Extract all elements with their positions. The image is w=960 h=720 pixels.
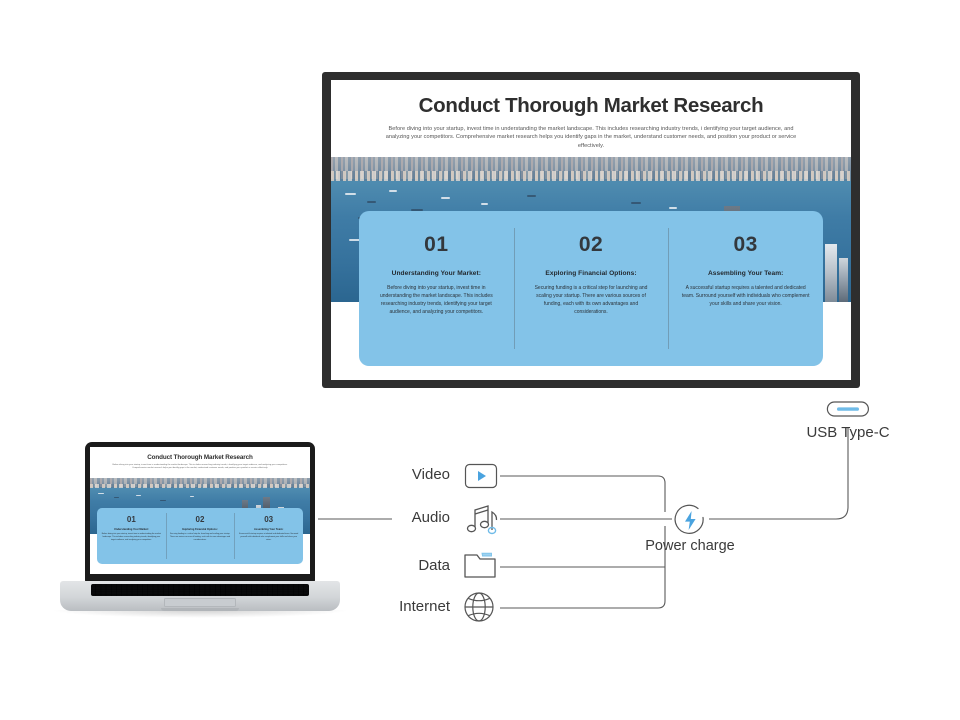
card-number: 02 xyxy=(170,515,231,524)
laptop-keyboard xyxy=(91,584,309,596)
slide-subtitle: Before diving into your startup, invest … xyxy=(383,125,799,151)
laptop-slide-subtitle: Before diving into your startup, invest … xyxy=(90,461,310,471)
monitor-screen: Conduct Thorough Market Research Before … xyxy=(331,80,851,380)
card-body: Securing funding is a critical step for … xyxy=(170,533,231,542)
three-step-card-panel: 01 Understanding Your Market: Before div… xyxy=(359,211,823,366)
card-body: A successful startup requires a talented… xyxy=(681,284,810,308)
card-body: A successful startup requires a talented… xyxy=(238,533,299,542)
slide-header: Conduct Thorough Market Research Before … xyxy=(331,80,851,159)
laptop-card-step-1: 01 Understanding Your Market: Before div… xyxy=(97,508,166,564)
card-number: 02 xyxy=(527,233,656,257)
card-number: 03 xyxy=(238,515,299,524)
card-step-2: 02 Exploring Financial Options: Securing… xyxy=(514,211,669,366)
video-play-icon[interactable] xyxy=(464,463,498,489)
card-step-3: 03 Assembling Your Team: A successful st… xyxy=(668,211,823,366)
folder-icon[interactable] xyxy=(463,550,497,580)
card-number: 03 xyxy=(681,233,810,257)
wire-power-to-usbc xyxy=(709,428,848,519)
laptop-card-step-2: 02 Exploring Financial Options: Securing… xyxy=(166,508,235,564)
label-data: Data xyxy=(340,557,450,574)
laptop-trackpad xyxy=(164,598,236,607)
card-heading: Exploring Financial Options: xyxy=(527,270,656,277)
globe-icon[interactable] xyxy=(462,590,496,624)
laptop: Conduct Thorough Market Research Before … xyxy=(60,440,340,635)
card-body: Before diving into your startup, invest … xyxy=(372,284,501,316)
laptop-screen: Conduct Thorough Market Research Before … xyxy=(90,447,310,574)
laptop-slide-title: Conduct Thorough Market Research xyxy=(90,447,310,461)
card-heading: Exploring Financial Options: xyxy=(170,528,231,531)
card-heading: Understanding Your Market: xyxy=(372,270,501,277)
laptop-lid: Conduct Thorough Market Research Before … xyxy=(85,442,315,582)
label-usb-type-c: USB Type-C xyxy=(760,424,936,441)
usb-type-c-connector-icon[interactable] xyxy=(826,399,870,419)
card-number: 01 xyxy=(372,233,501,257)
laptop-base xyxy=(60,581,340,611)
laptop-card-panel: 01 Understanding Your Market: Before div… xyxy=(97,508,303,564)
wire-video xyxy=(500,476,665,512)
slide-title: Conduct Thorough Market Research xyxy=(383,94,799,118)
music-notes-icon[interactable] xyxy=(462,500,502,540)
card-heading: Assembling Your Team: xyxy=(238,528,299,531)
label-audio: Audio xyxy=(340,509,450,526)
card-heading: Understanding Your Market: xyxy=(101,528,162,531)
card-body: Before diving into your startup, invest … xyxy=(101,533,162,542)
power-charge-node-icon[interactable] xyxy=(672,502,709,539)
card-number: 01 xyxy=(101,515,162,524)
label-power-charge: Power charge xyxy=(612,538,768,554)
card-step-1: 01 Understanding Your Market: Before div… xyxy=(359,211,514,366)
laptop-shadow xyxy=(50,610,350,618)
laptop-card-step-3: 03 Assembling Your Team: A successful st… xyxy=(234,508,303,564)
diagram-canvas: Conduct Thorough Market Research Before … xyxy=(0,0,960,720)
card-heading: Assembling Your Team: xyxy=(681,270,810,277)
external-monitor: Conduct Thorough Market Research Before … xyxy=(322,72,860,388)
label-video: Video xyxy=(340,466,450,483)
label-internet: Internet xyxy=(330,598,450,615)
card-body: Securing funding is a critical step for … xyxy=(527,284,656,316)
